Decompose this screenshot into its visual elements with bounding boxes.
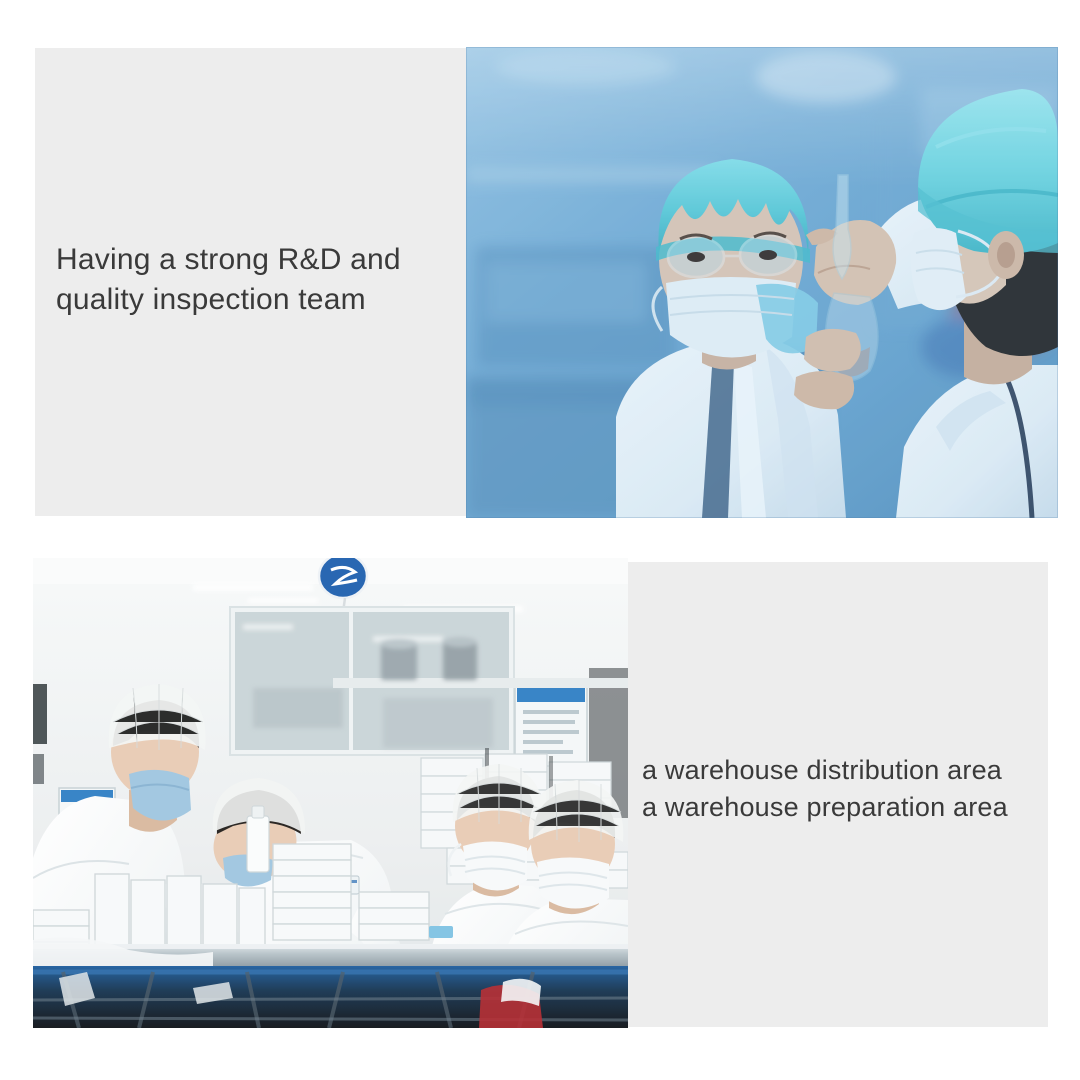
warehouse-packaging-illustration	[33, 558, 628, 1028]
lab-technicians-photo	[466, 47, 1058, 518]
section-warehouse-caption: a warehouse distribution area a warehous…	[642, 752, 1042, 827]
section-rd-quality-caption: Having a strong R&D and quality inspecti…	[56, 240, 456, 319]
warehouse-packaging-photo	[33, 558, 628, 1028]
poster-root: Having a strong R&D and quality inspecti…	[0, 0, 1080, 1080]
lab-technicians-illustration	[466, 47, 1058, 518]
